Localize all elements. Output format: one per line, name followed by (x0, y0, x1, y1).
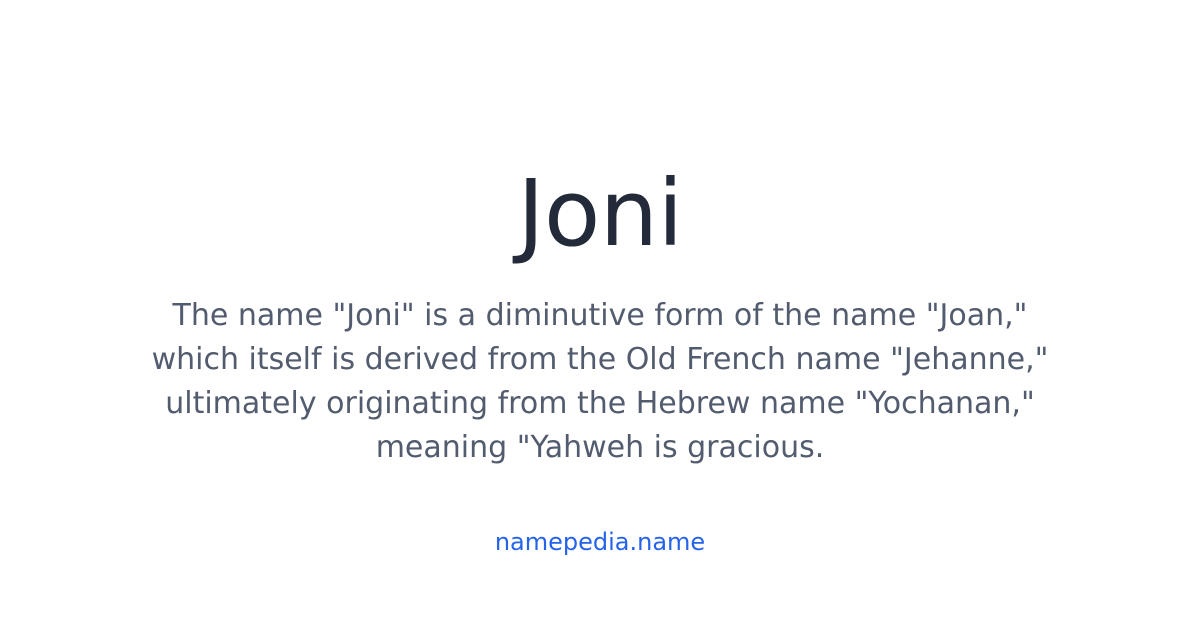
og-preview-card: Joni The name "Joni" is a diminutive for… (0, 0, 1200, 630)
name-description: The name "Joni" is a diminutive form of … (140, 294, 1060, 470)
description-line: ultimately originating from the Hebrew n… (140, 382, 1060, 426)
description-line: The name "Joni" is a diminutive form of … (140, 294, 1060, 338)
description-line: which itself is derived from the Old Fre… (140, 338, 1060, 382)
site-link[interactable]: namepedia.name (495, 528, 705, 556)
page-title: Joni (517, 168, 682, 260)
description-line: meaning "Yahweh is gracious. (140, 426, 1060, 470)
footer: namepedia.name (495, 530, 705, 554)
